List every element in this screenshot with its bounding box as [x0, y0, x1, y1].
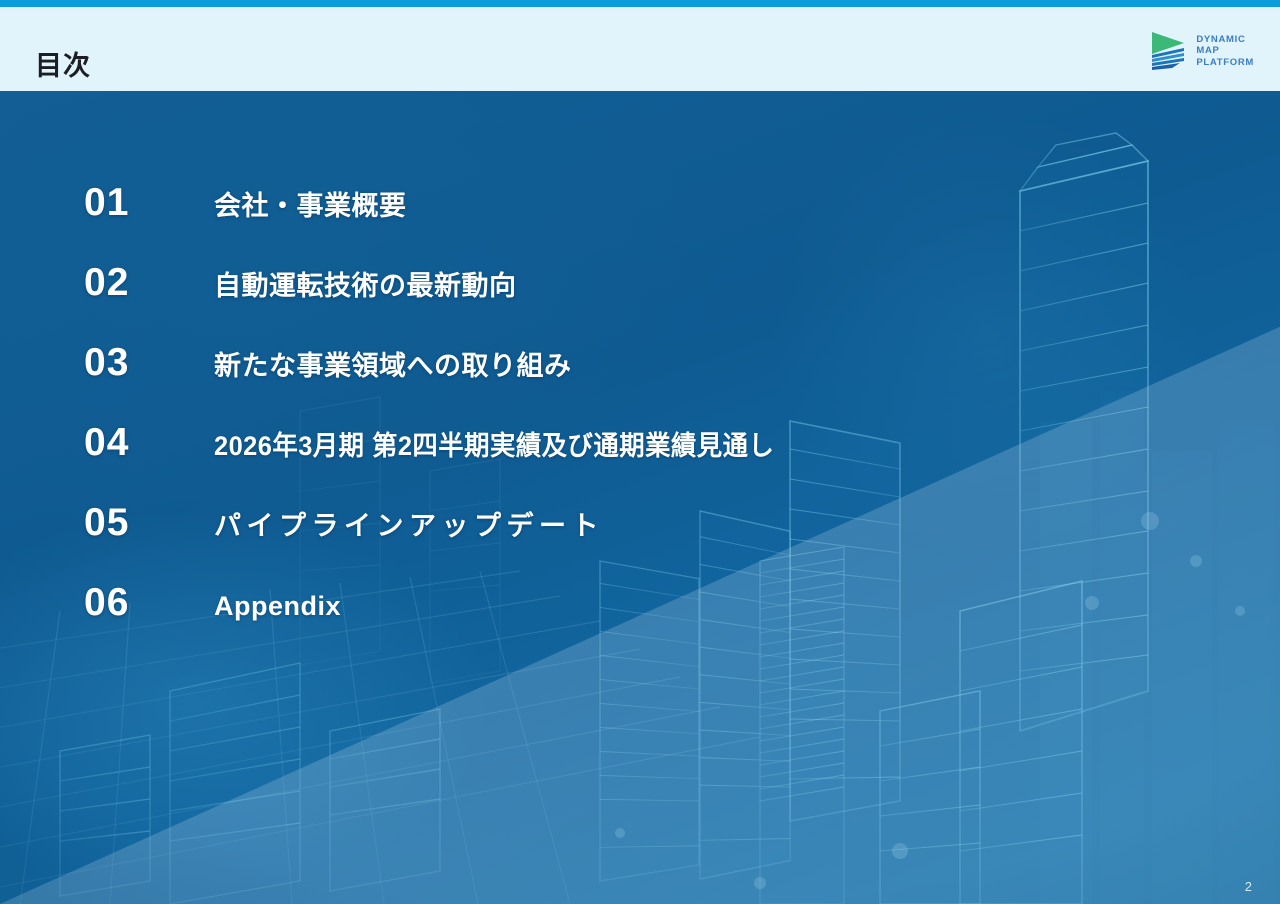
logo-line-3: PLATFORM — [1196, 57, 1254, 69]
toc-number: 01 — [84, 181, 214, 225]
toc-label: 会社・事業概要 — [214, 184, 407, 223]
page-title: 目次 — [35, 50, 91, 82]
toc-item-03[interactable]: 03 新たな事業領域への取り組み — [84, 341, 572, 385]
toc-item-06[interactable]: 06 Appendix — [84, 581, 341, 625]
slide: 目次 DYNAMIC MAP PLATFORM — [0, 0, 1280, 904]
toc-item-05[interactable]: 05 パイプラインアップデート — [84, 501, 604, 545]
top-accent-bar — [0, 0, 1280, 7]
page-number: 2 — [1245, 879, 1252, 894]
toc-label: 2026年3月期 第2四半期実績及び通期業績見通し — [214, 424, 774, 463]
toc-number: 03 — [84, 341, 214, 385]
toc-item-02[interactable]: 02 自動運転技術の最新動向 — [84, 261, 517, 305]
logo-line-1: DYNAMIC — [1196, 34, 1254, 46]
toc-number: 06 — [84, 581, 214, 625]
toc-label: 新たな事業領域への取り組み — [214, 344, 572, 383]
toc-label: 自動運転技術の最新動向 — [214, 264, 517, 303]
toc-number: 05 — [84, 501, 214, 545]
logo-line-2: MAP — [1196, 45, 1254, 57]
toc-label: Appendix — [214, 591, 341, 622]
logo-wordmark: DYNAMIC MAP PLATFORM — [1196, 34, 1254, 69]
toc-item-01[interactable]: 01 会社・事業概要 — [84, 181, 407, 225]
company-logo: DYNAMIC MAP PLATFORM — [1150, 30, 1254, 72]
toc-label: パイプラインアップデート — [214, 504, 604, 543]
slide-header: 目次 DYNAMIC MAP PLATFORM — [0, 7, 1280, 91]
toc-item-04[interactable]: 04 2026年3月期 第2四半期実績及び通期業績見通し — [84, 421, 810, 465]
slide-body: 01 会社・事業概要 02 自動運転技術の最新動向 03 新たな事業領域への取り… — [0, 91, 1280, 904]
toc-number: 04 — [84, 421, 214, 465]
stacked-layers-triangle-icon — [1150, 30, 1188, 72]
toc-number: 02 — [84, 261, 214, 305]
